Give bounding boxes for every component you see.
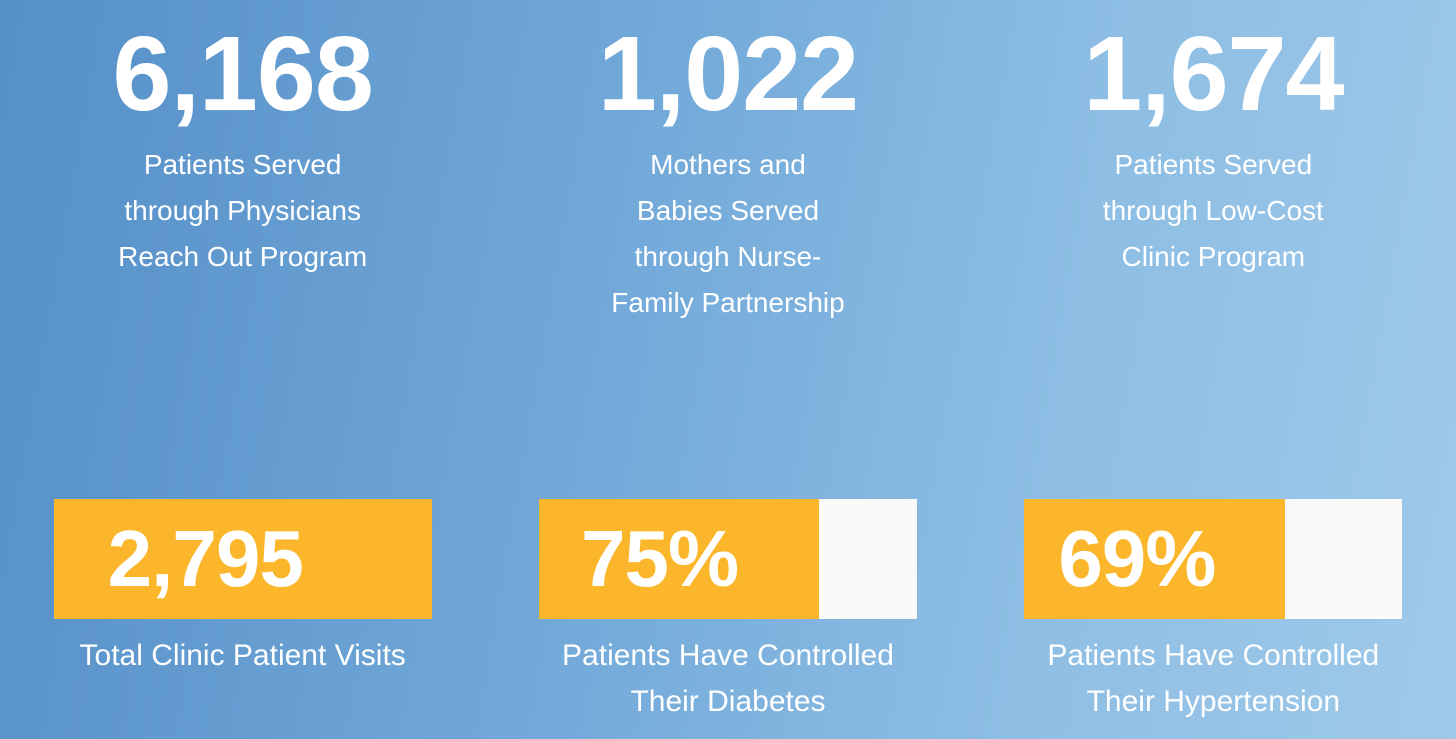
stat-label: Patients Served through Low-Cost Clinic … xyxy=(1091,142,1336,280)
stat-card-low-cost-clinic: 1,674 Patients Served through Low-Cost C… xyxy=(971,0,1456,430)
top-stats-row: 6,168 Patients Served through Physicians… xyxy=(0,0,1456,430)
stat-label: Patients Served through Physicians Reach… xyxy=(118,142,368,280)
bottom-bars-row: 2,795 Total Clinic Patient Visits 75% Pa… xyxy=(0,470,1456,739)
stat-value: 1,674 xyxy=(1083,18,1343,130)
progress-track: 69% xyxy=(1024,499,1402,619)
bar-label: Patients Have Controlled Their Hypertens… xyxy=(1013,633,1413,725)
impact-stats-infographic: 6,168 Patients Served through Physicians… xyxy=(0,0,1456,739)
progress-track: 75% xyxy=(539,499,917,619)
progress-fill: 75% xyxy=(539,499,819,619)
stat-value: 1,022 xyxy=(598,18,858,130)
bar-label: Total Clinic Patient Visits xyxy=(80,633,406,679)
stat-label: Mothers and Babies Served through Nurse-… xyxy=(608,142,848,326)
progress-fill: 69% xyxy=(1024,499,1285,619)
bar-card-controlled-hypertension: 69% Patients Have Controlled Their Hyper… xyxy=(971,470,1456,739)
bar-label: Patients Have Controlled Their Diabetes xyxy=(528,633,928,725)
bar-value: 75% xyxy=(539,519,738,599)
stat-card-nurse-family-partnership: 1,022 Mothers and Babies Served through … xyxy=(485,0,970,430)
stat-value: 6,168 xyxy=(113,18,373,130)
bar-value: 69% xyxy=(1024,519,1215,599)
progress-track: 2,795 xyxy=(54,499,432,619)
bar-card-total-clinic-visits: 2,795 Total Clinic Patient Visits xyxy=(0,470,485,739)
bar-value: 2,795 xyxy=(54,519,303,599)
progress-fill: 2,795 xyxy=(54,499,432,619)
stat-card-physicians-reach-out: 6,168 Patients Served through Physicians… xyxy=(0,0,485,430)
bar-card-controlled-diabetes: 75% Patients Have Controlled Their Diabe… xyxy=(485,470,970,739)
